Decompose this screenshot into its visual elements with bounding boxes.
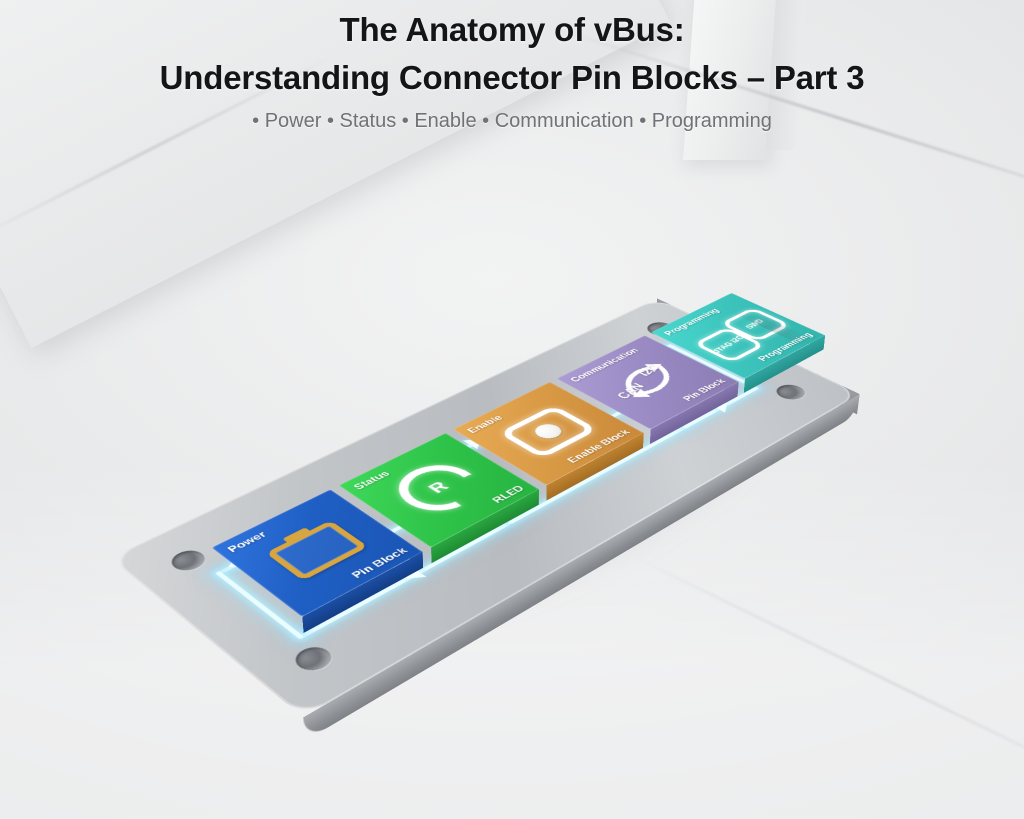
- led-letter: R: [424, 479, 453, 496]
- page-title-line-2: Understanding Connector Pin Blocks – Par…: [0, 49, 1024, 97]
- mounting-hole-icon: [289, 643, 338, 675]
- page-subtitle: • Power • Status • Enable • Communicatio…: [0, 97, 1024, 134]
- mounting-hole-icon: [771, 382, 811, 403]
- battery-outline-icon: [266, 520, 369, 580]
- header: The Anatomy of vBus: Understanding Conne…: [0, 0, 1024, 134]
- mounting-hole-icon: [166, 547, 212, 575]
- status-ring-icon: R: [391, 462, 484, 514]
- swd-badge-label: SWD: [745, 319, 767, 330]
- jtag-badge-label: JTAG I2C: [712, 335, 747, 355]
- battery-bolt-icon: [266, 520, 369, 580]
- page-title-line-1: The Anatomy of vBus:: [0, 0, 1024, 49]
- led-ring-icon: R: [383, 456, 495, 520]
